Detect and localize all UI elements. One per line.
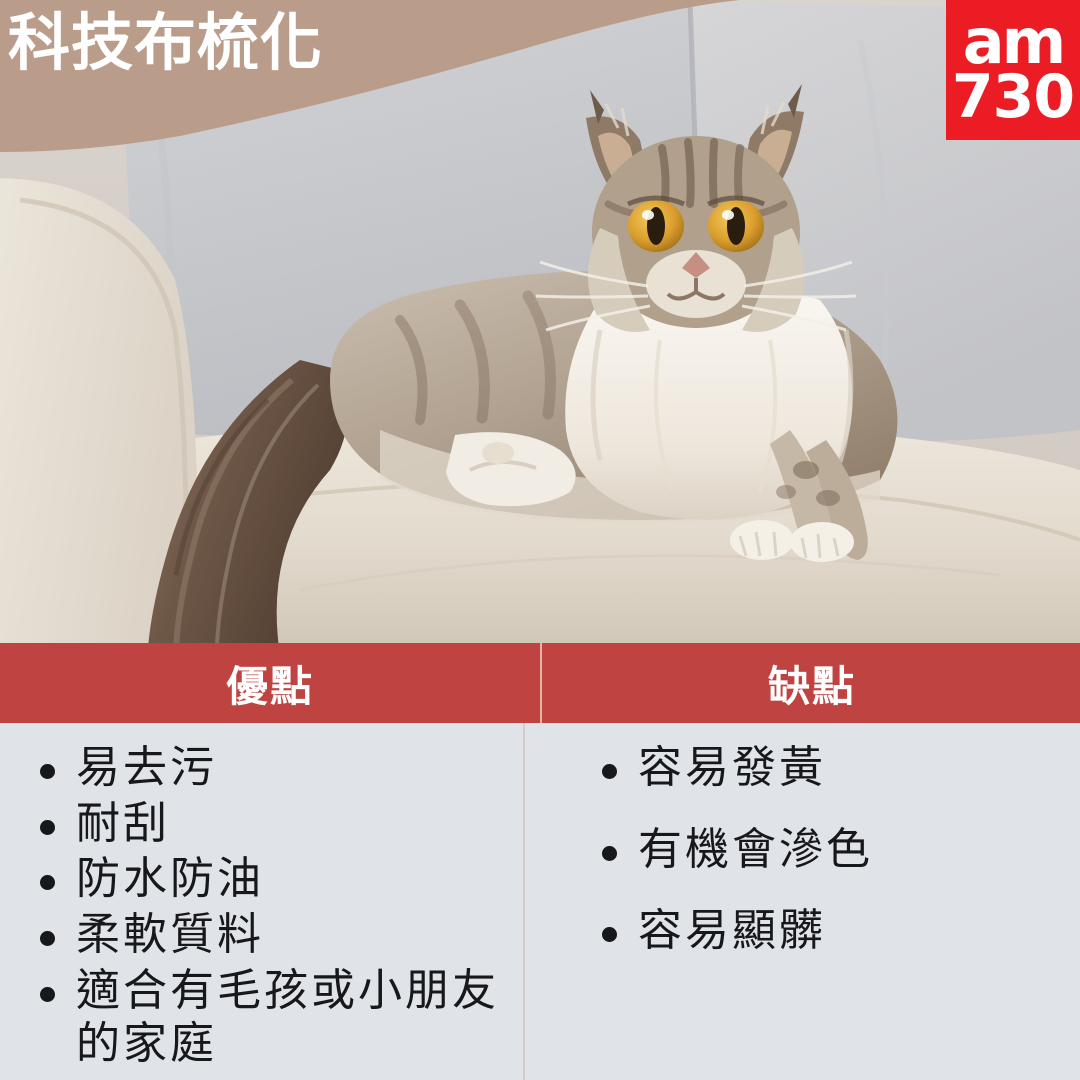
cat-on-sofa-illustration xyxy=(0,0,1080,643)
table-body: 易去污 耐刮 防水防油 柔軟質料 適合有毛孩或小朋友的家庭 容易發黃 有機會滲色… xyxy=(0,723,1080,1080)
list-item: 適合有毛孩或小朋友的家庭 xyxy=(28,964,530,1071)
infographic-card: 科技布梳化 am 730 優點 缺點 易去污 耐刮 防水防油 柔軟質料 適合有毛… xyxy=(0,0,1080,1080)
list-item: 有機會滲色 xyxy=(590,823,1070,877)
pros-cons-table: 優點 缺點 易去污 耐刮 防水防油 柔軟質料 適合有毛孩或小朋友的家庭 容易發黃… xyxy=(0,643,1080,1080)
list-item: 容易發黃 xyxy=(590,741,1070,795)
logo-line-730: 730 xyxy=(952,70,1074,124)
column-header-pros: 優點 xyxy=(0,643,542,723)
am730-logo[interactable]: am 730 xyxy=(946,0,1080,140)
cons-list: 容易發黃 有機會滲色 容易顯髒 xyxy=(590,741,1070,958)
pros-column: 易去污 耐刮 防水防油 柔軟質料 適合有毛孩或小朋友的家庭 xyxy=(0,723,540,1080)
list-item: 易去污 xyxy=(28,741,530,795)
list-item: 容易顯髒 xyxy=(590,904,1070,958)
logo-line-am: am xyxy=(963,16,1063,68)
page-title: 科技布梳化 xyxy=(8,10,323,75)
list-item: 耐刮 xyxy=(28,797,530,851)
pros-list: 易去污 耐刮 防水防油 柔軟質料 適合有毛孩或小朋友的家庭 xyxy=(28,741,530,1071)
hero-photo xyxy=(0,0,1080,643)
list-item: 防水防油 xyxy=(28,852,530,906)
cons-column: 容易發黃 有機會滲色 容易顯髒 xyxy=(540,723,1080,1080)
table-header-row: 優點 缺點 xyxy=(0,643,1080,723)
list-item: 柔軟質料 xyxy=(28,908,530,962)
column-header-cons: 缺點 xyxy=(542,643,1080,723)
